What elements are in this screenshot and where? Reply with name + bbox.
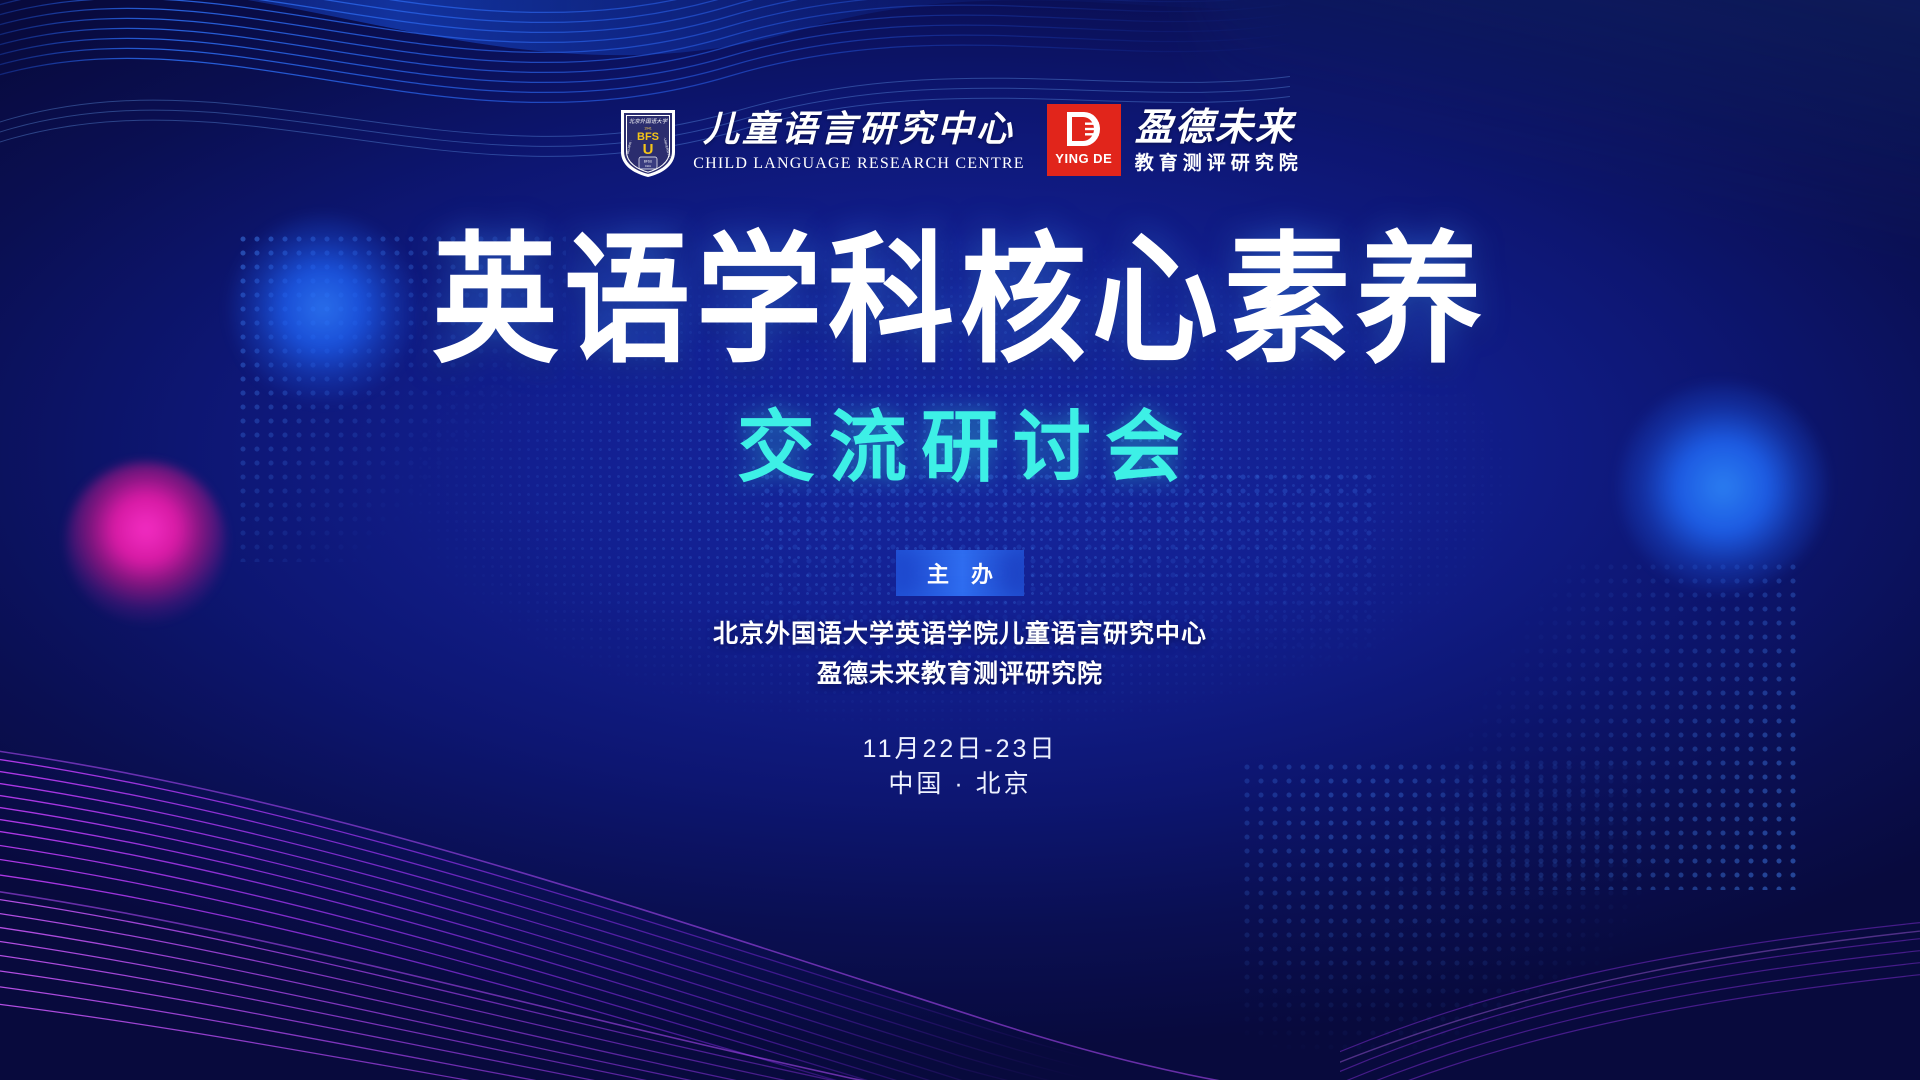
poster-canvas: 北京外国语大学 1941 BFS U BFSU 1941 · BEIJING ·…: [0, 0, 1920, 1080]
yingde-mark-en-top: YING DE: [1055, 151, 1112, 166]
host-badge: 主 办: [896, 550, 1024, 596]
yingde-name-cn: 盈德未来: [1135, 108, 1303, 146]
svg-text:北京外国语大学: 北京外国语大学: [629, 118, 669, 125]
logo-row: 北京外国语大学 1941 BFS U BFSU 1941 · BEIJING ·…: [0, 104, 1920, 178]
clrc-text-block: 儿童语言研究中心 CHILD LANGUAGE RESEARCH CENTRE: [693, 111, 1025, 172]
page-title: 英语学科核心素养: [0, 230, 1920, 371]
bfsu-crest-icon: 北京外国语大学 1941 BFS U BFSU 1941 · BEIJING ·…: [617, 104, 679, 178]
yingde-name-sub-cn: 教育测评研究院: [1135, 154, 1303, 173]
yingde-red-mark: YING DE: [1047, 104, 1121, 176]
d-glyph-icon: [1063, 109, 1105, 149]
svg-text:1941: 1941: [645, 164, 651, 168]
svg-text:U: U: [643, 141, 654, 158]
organizer-line-1: 北京外国语大学英语学院儿童语言研究中心: [0, 614, 1920, 650]
clrc-name-cn: 儿童语言研究中心: [703, 111, 1015, 147]
svg-text:1941: 1941: [644, 127, 652, 131]
page-subtitle: 交流研讨会: [0, 408, 1920, 486]
event-date: 11月22日-23日: [0, 729, 1920, 765]
logo-child-language-research-centre: 北京外国语大学 1941 BFS U BFSU 1941 · BEIJING ·…: [617, 104, 1025, 178]
yingde-text-block: 盈德未来 教育测评研究院: [1135, 108, 1303, 173]
clrc-name-en: CHILD LANGUAGE RESEARCH CENTRE: [693, 156, 1025, 172]
yingde-d-letter-icon: [1047, 104, 1121, 154]
organizer-line-2: 盈德未来教育测评研究院: [0, 654, 1920, 690]
logo-ying-de-education: YING DE 盈德未来 教育测评研究院: [1047, 104, 1303, 176]
svg-text:BFSU: BFSU: [644, 160, 653, 164]
content-layer: 北京外国语大学 1941 BFS U BFSU 1941 · BEIJING ·…: [0, 0, 1920, 1080]
event-location: 中国 · 北京: [0, 764, 1920, 800]
